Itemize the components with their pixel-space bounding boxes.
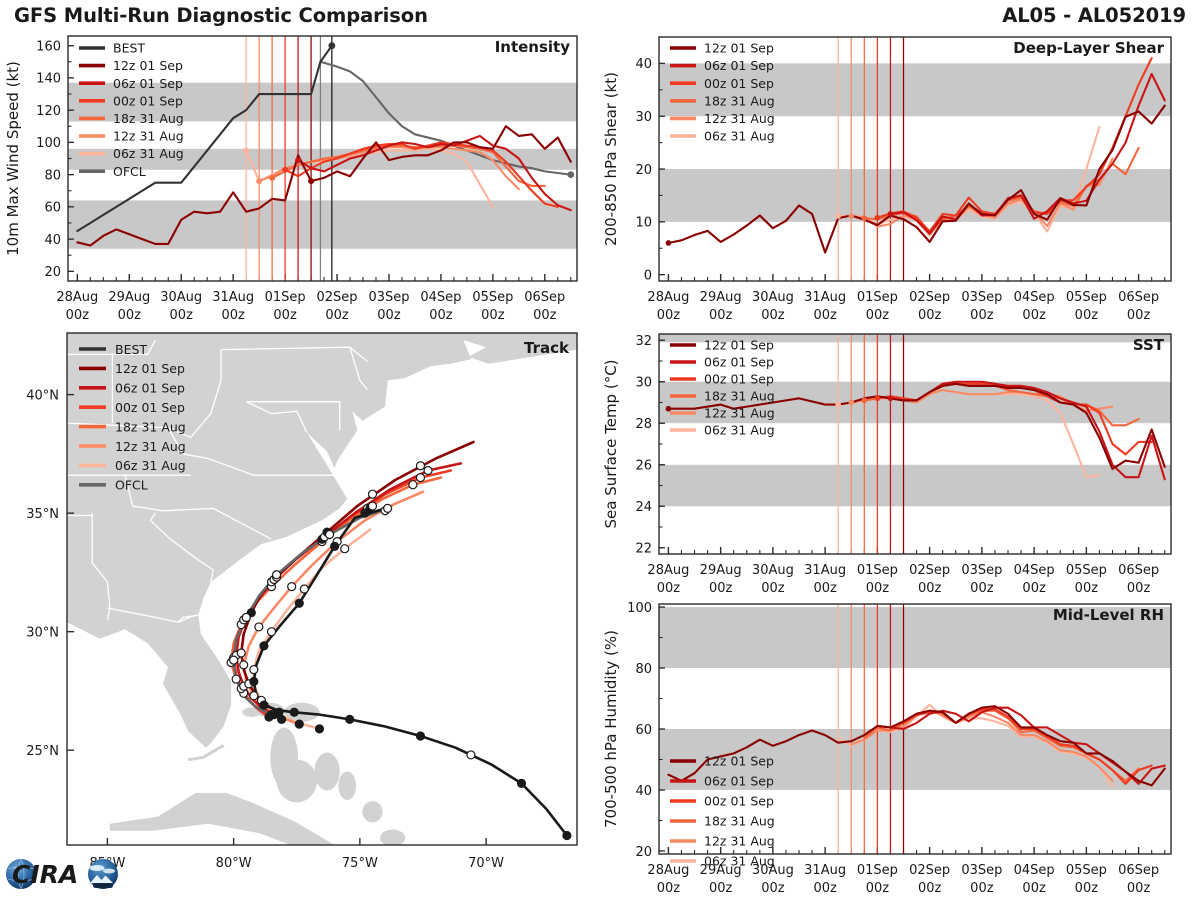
svg-text:00z: 00z [918, 881, 942, 896]
svg-text:01Sep: 01Sep [265, 290, 306, 305]
svg-text:31Aug: 31Aug [804, 863, 846, 878]
track-marker-closed [260, 701, 268, 709]
track-marker-closed [268, 711, 276, 719]
legend-label: 12z 01 Sep [704, 41, 774, 56]
panel-title: Intensity [495, 38, 571, 56]
track-marker-closed [295, 720, 303, 728]
svg-text:00z: 00z [533, 308, 557, 323]
run-start-marker [282, 167, 288, 173]
track-marker-open [416, 462, 424, 470]
legend-label: 00z 01 Sep [704, 794, 774, 809]
lon-tick-label: 75°W [342, 856, 378, 871]
track-marker-closed [361, 509, 369, 517]
legend-label: 12z 31 Aug [704, 406, 775, 421]
svg-text:60: 60 [635, 723, 652, 738]
svg-text:120: 120 [36, 104, 61, 119]
legend-label: OFCL [113, 164, 146, 179]
svg-text:03Sep: 03Sep [961, 290, 1002, 305]
legend-label: 06z 31 Aug [113, 146, 184, 161]
track-marker-open [230, 656, 238, 664]
svg-text:00z: 00z [1022, 308, 1046, 323]
run-start-marker [295, 157, 301, 163]
svg-text:00z: 00z [761, 308, 785, 323]
legend-label: 00z 01 Sep [704, 372, 774, 387]
svg-text:80: 80 [635, 662, 652, 677]
svg-text:03Sep: 03Sep [961, 563, 1002, 578]
svg-text:00z: 00z [657, 308, 681, 323]
svg-text:28Aug: 28Aug [647, 863, 689, 878]
svg-text:31Aug: 31Aug [804, 563, 846, 578]
svg-text:29Aug: 29Aug [700, 290, 742, 305]
legend-label: 00z 01 Sep [704, 76, 774, 91]
panel-title: Deep-Layer Shear [1013, 39, 1164, 57]
legend-label: 00z 01 Sep [115, 400, 185, 415]
lat-tick-label: 40°N [26, 389, 59, 404]
svg-text:00z: 00z [709, 308, 733, 323]
legend-label: BEST [113, 41, 145, 56]
svg-text:40: 40 [44, 233, 61, 248]
track-marker-open [326, 530, 334, 538]
legend-label: 18z 31 Aug [704, 814, 775, 829]
track-marker-closed [290, 708, 298, 716]
y-axis-label: 10m Max Wind Speed (kt) [4, 61, 22, 256]
legend-label: OFCL [115, 478, 148, 493]
svg-text:29Aug: 29Aug [700, 563, 742, 578]
svg-text:00z: 00z [918, 308, 942, 323]
track-marker-open [255, 623, 263, 631]
track-marker-open [341, 545, 349, 553]
svg-text:30Aug: 30Aug [160, 290, 202, 305]
cira-logo: CIRA RAMMB [4, 852, 128, 896]
legend-label: 06z 31 Aug [704, 423, 775, 438]
svg-text:00z: 00z [170, 308, 194, 323]
svg-text:04Sep: 04Sep [420, 290, 461, 305]
legend-label: 06z 01 Sep [113, 76, 183, 91]
legend-label: 06z 01 Sep [115, 381, 185, 396]
lon-tick-label: 80°W [216, 856, 252, 871]
svg-text:00z: 00z [118, 308, 142, 323]
svg-text:22: 22 [635, 542, 652, 557]
legend-label: 12z 01 Sep [113, 58, 183, 73]
track-marker-open [237, 649, 245, 657]
svg-text:160: 160 [36, 39, 61, 54]
track-marker-closed [275, 708, 283, 716]
logo-wordmark: CIRA [12, 860, 78, 889]
svg-text:06Sep: 06Sep [1118, 863, 1159, 878]
track-marker-open [416, 474, 424, 482]
svg-text:00z: 00z [221, 308, 245, 323]
sst-panel: 222426283032Sea Surface Temp (°C)28Aug00… [600, 326, 1200, 594]
legend-label: 06z 01 Sep [704, 355, 774, 370]
legend-label: 12z 31 Aug [704, 834, 775, 849]
track-marker-open [240, 661, 248, 669]
svg-text:06Sep: 06Sep [1118, 563, 1159, 578]
svg-text:40: 40 [635, 57, 652, 72]
track-marker-closed [295, 599, 303, 607]
svg-text:80: 80 [44, 168, 61, 183]
svg-text:40: 40 [635, 784, 652, 799]
svg-text:00z: 00z [1127, 881, 1151, 896]
legend-label: 12z 01 Sep [704, 754, 774, 769]
track-marker-open [368, 490, 376, 498]
svg-text:30: 30 [635, 376, 652, 391]
run-start-marker [308, 178, 314, 184]
svg-text:28Aug: 28Aug [647, 290, 689, 305]
svg-text:02Sep: 02Sep [909, 863, 950, 878]
legend-label: BEST [115, 342, 147, 357]
svg-text:00z: 00z [429, 308, 453, 323]
svg-text:00z: 00z [813, 308, 837, 323]
track-marker-closed [416, 732, 424, 740]
track-marker-open [424, 466, 432, 474]
svg-text:100: 100 [36, 136, 61, 151]
legend-label: 12z 01 Sep [115, 361, 185, 376]
svg-text:28: 28 [635, 417, 652, 432]
svg-text:26: 26 [635, 459, 652, 474]
legend-label: 18z 31 Aug [704, 93, 775, 108]
track-marker-open [384, 504, 392, 512]
run-start-marker [835, 402, 841, 408]
legend-label: 12z 31 Aug [115, 439, 186, 454]
svg-text:00z: 00z [970, 881, 994, 896]
run-start-marker [666, 240, 672, 246]
svg-text:29Aug: 29Aug [108, 290, 150, 305]
legend-label: 12z 31 Aug [704, 111, 775, 126]
svg-text:05Sep: 05Sep [1066, 563, 1107, 578]
track-panel: 25°N30°N35°N40°N85°W80°W75°W70°WTrackBES… [0, 326, 596, 871]
svg-text:140: 140 [36, 72, 61, 87]
run-start-marker [835, 213, 841, 219]
svg-text:00z: 00z [657, 881, 681, 896]
lat-tick-label: 25°N [26, 744, 59, 759]
track-marker-open [409, 481, 417, 489]
svg-text:04Sep: 04Sep [1014, 563, 1055, 578]
track-marker-closed [346, 715, 354, 723]
run-start-marker [666, 406, 672, 412]
svg-text:00z: 00z [866, 308, 890, 323]
svg-text:00z: 00z [866, 881, 890, 896]
svg-text:06Sep: 06Sep [524, 290, 565, 305]
svg-text:03Sep: 03Sep [961, 863, 1002, 878]
track-marker-closed [517, 779, 525, 787]
svg-text:01Sep: 01Sep [857, 563, 898, 578]
svg-text:00z: 00z [1127, 308, 1151, 323]
legend-label: 12z 31 Aug [113, 129, 184, 144]
run-start-marker [848, 213, 854, 219]
shear-panel: 010203040200-850 hPa Shear (kt)28Aug00z2… [600, 26, 1200, 321]
track-marker-closed [250, 677, 258, 685]
svg-text:01Sep: 01Sep [857, 863, 898, 878]
legend-label: 06z 31 Aug [704, 854, 775, 869]
run-start-marker [848, 400, 854, 406]
run-start-marker [862, 398, 868, 404]
run-start-marker [256, 178, 262, 184]
legend-label: 12z 01 Sep [704, 338, 774, 353]
svg-text:20: 20 [635, 845, 652, 860]
svg-text:28Aug: 28Aug [56, 290, 98, 305]
lon-tick-label: 70°W [468, 856, 504, 871]
svg-text:02Sep: 02Sep [317, 290, 358, 305]
y-axis-label: 200-850 hPa Shear (kt) [602, 72, 620, 246]
legend-label: 18z 31 Aug [115, 419, 186, 434]
svg-text:06Sep: 06Sep [1118, 290, 1159, 305]
run-start-marker [888, 396, 894, 402]
svg-text:00z: 00z [1075, 881, 1099, 896]
track-marker-open [250, 692, 258, 700]
svg-text:00z: 00z [325, 308, 349, 323]
svg-text:32: 32 [635, 334, 652, 349]
panel-title: SST [1133, 336, 1165, 354]
svg-text:31Aug: 31Aug [212, 290, 254, 305]
svg-text:05Sep: 05Sep [1066, 863, 1107, 878]
svg-text:02Sep: 02Sep [909, 563, 950, 578]
svg-text:28Aug: 28Aug [647, 563, 689, 578]
svg-text:30Aug: 30Aug [752, 290, 794, 305]
lat-tick-label: 35°N [26, 507, 59, 522]
track-marker-closed [331, 542, 339, 550]
legend-label: 00z 01 Sep [113, 93, 183, 108]
svg-text:60: 60 [44, 201, 61, 216]
lat-tick-label: 30°N [26, 626, 59, 641]
svg-text:30: 30 [635, 110, 652, 125]
track-marker-open [250, 666, 258, 674]
legend-label: 06z 01 Sep [704, 774, 774, 789]
svg-text:0: 0 [644, 268, 652, 283]
svg-text:00z: 00z [761, 881, 785, 896]
run-start-marker [888, 211, 894, 217]
page-title: GFS Multi-Run Diagnostic Comparison [14, 4, 428, 27]
svg-text:RAMMB: RAMMB [96, 884, 110, 888]
legend-label: 18z 31 Aug [113, 111, 184, 126]
svg-text:100: 100 [627, 601, 652, 616]
track-marker-open [368, 502, 376, 510]
run-start-marker [875, 215, 881, 221]
run-start-marker [243, 147, 249, 153]
track-marker-open [273, 571, 281, 579]
track-marker-closed [260, 642, 268, 650]
svg-text:00z: 00z [377, 308, 401, 323]
legend-label: 18z 31 Aug [704, 389, 775, 404]
svg-text:00z: 00z [66, 308, 90, 323]
svg-text:00z: 00z [1075, 308, 1099, 323]
run-start-marker [862, 215, 868, 221]
y-axis-label: 700-500 hPa Humidity (%) [602, 630, 620, 828]
legend-label: 06z 01 Sep [704, 58, 774, 73]
svg-text:05Sep: 05Sep [472, 290, 513, 305]
storm-id-label: AL05 - AL052019 [1002, 4, 1186, 27]
svg-text:00z: 00z [709, 881, 733, 896]
track-marker-open [467, 751, 475, 759]
svg-text:00z: 00z [481, 308, 505, 323]
legend-label: 06z 31 Aug [704, 129, 775, 144]
y-axis-label: Sea Surface Temp (°C) [602, 359, 620, 528]
svg-text:00z: 00z [970, 308, 994, 323]
rh-panel: 20406080100700-500 hPa Humidity (%)28Aug… [600, 594, 1200, 900]
track-marker-open [300, 585, 308, 593]
endpoint-marker [567, 171, 574, 178]
endpoint-marker [328, 42, 335, 49]
svg-text:24: 24 [635, 500, 652, 515]
track-marker-closed [315, 725, 323, 733]
svg-text:10: 10 [635, 216, 652, 231]
svg-text:02Sep: 02Sep [909, 290, 950, 305]
svg-text:05Sep: 05Sep [1066, 290, 1107, 305]
track-marker-open [268, 628, 276, 636]
panel-title: Track [524, 339, 570, 357]
track-marker-open [232, 675, 240, 683]
run-start-marker [269, 175, 275, 181]
svg-text:04Sep: 04Sep [1014, 863, 1055, 878]
track-marker-open [288, 583, 296, 591]
svg-text:30Aug: 30Aug [752, 563, 794, 578]
track-marker-open [242, 613, 250, 621]
svg-text:20: 20 [635, 163, 652, 178]
svg-text:20: 20 [44, 265, 61, 280]
svg-text:00z: 00z [813, 881, 837, 896]
panel-title: Mid-Level RH [1053, 606, 1164, 624]
svg-text:00z: 00z [1022, 881, 1046, 896]
svg-text:03Sep: 03Sep [368, 290, 409, 305]
svg-text:31Aug: 31Aug [804, 290, 846, 305]
intensity-panel: 2040608010012014016010m Max Wind Speed (… [0, 26, 596, 321]
svg-text:00z: 00z [273, 308, 297, 323]
svg-text:04Sep: 04Sep [1014, 290, 1055, 305]
track-marker-closed [563, 832, 571, 840]
run-start-marker [875, 396, 881, 402]
svg-text:01Sep: 01Sep [857, 290, 898, 305]
legend-label: 06z 31 Aug [115, 458, 186, 473]
